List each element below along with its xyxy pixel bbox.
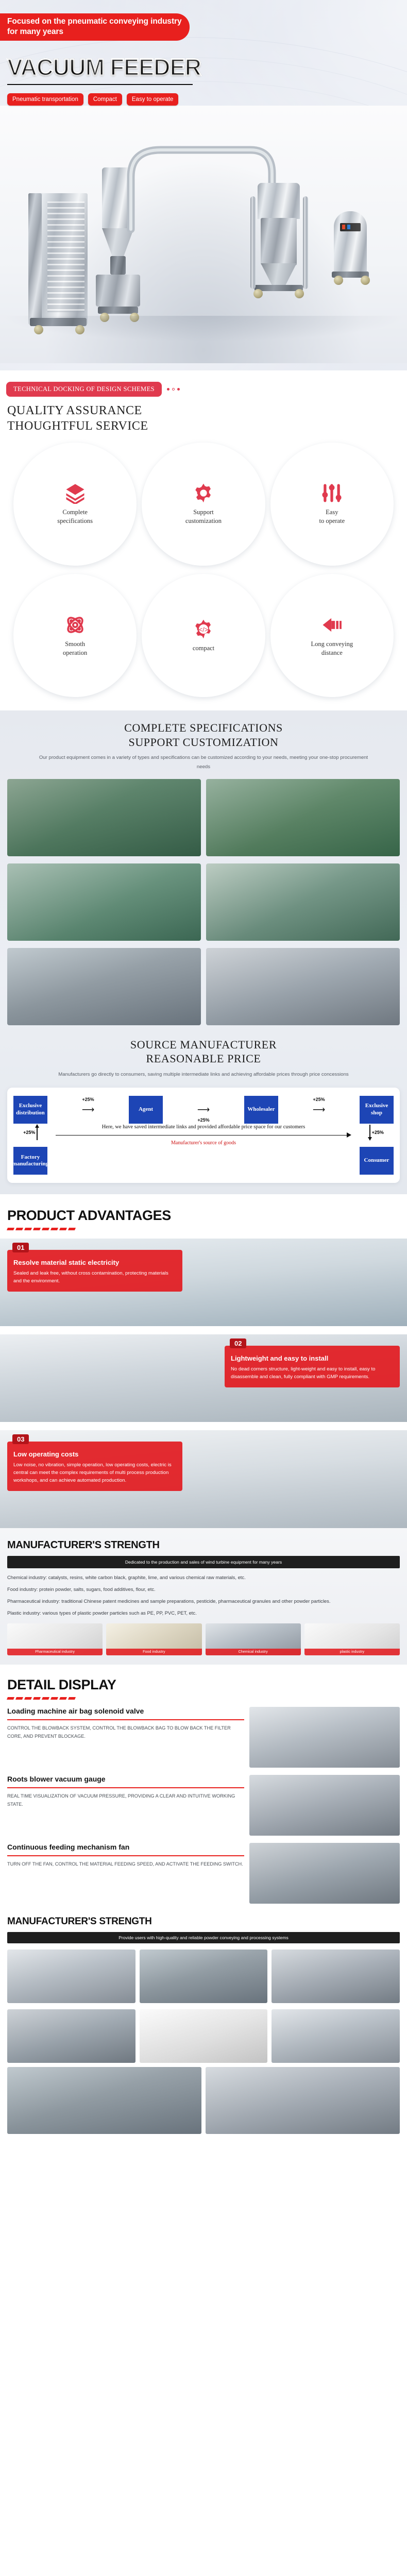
chain-top-row: Exclusive distribution +25% ⟶ Agent ⟶ +2… bbox=[13, 1096, 394, 1124]
specs-subtitle: Our product equipment comes in a variety… bbox=[0, 753, 407, 771]
manufacturer-strength-section: MANUFACTURER'S STRENGTH Dedicated to the… bbox=[0, 1528, 407, 1665]
gallery-grid-row2 bbox=[7, 2009, 400, 2063]
chain-percent: +25% bbox=[197, 1117, 209, 1123]
service-feature-item: Complete specifications bbox=[13, 443, 137, 566]
feature-tag: Easy to operate bbox=[127, 93, 179, 106]
gallery-photo bbox=[272, 1950, 400, 2003]
industry-caption: plastic industry bbox=[304, 1649, 400, 1655]
chain-node-wholesaler: Wholesaler bbox=[244, 1096, 278, 1124]
advantages-rule-decoration bbox=[7, 1228, 407, 1230]
advantage-heading: Lightweight and easy to install bbox=[231, 1354, 394, 1363]
detail-body: TURN OFF THE FAN, CONTROL THE MATERIAL F… bbox=[7, 1860, 244, 1869]
strength-paragraph: Chemical industry: catalysts, resins, wh… bbox=[7, 1573, 400, 1582]
arrow-up-icon bbox=[37, 1125, 38, 1140]
specs-title-secondary: SUPPORT CUSTOMIZATION bbox=[0, 735, 407, 750]
gallery-grid-row1 bbox=[7, 1950, 400, 2003]
dot-icon bbox=[172, 388, 175, 391]
chain-arrow-down: +25% bbox=[369, 1124, 384, 1141]
distribution-chain-card: Exclusive distribution +25% ⟶ Agent ⟶ +2… bbox=[7, 1088, 400, 1183]
chain-left-vertical: +25% bbox=[13, 1124, 47, 1141]
product-landing-page: Focused on the pneumatic conveying indus… bbox=[0, 0, 407, 2147]
chain-note-text: Here, we have saved intermediate links a… bbox=[50, 1124, 357, 1131]
industry-caption: Food industry bbox=[106, 1649, 201, 1655]
detail-body: CONTROL THE BLOWBACK SYSTEM, CONTROL THE… bbox=[7, 1724, 244, 1740]
gallery-photo bbox=[140, 2009, 268, 2063]
detail-item-2: Roots blower vacuum gauge REAL TIME VISU… bbox=[0, 1768, 407, 1836]
dot-icon bbox=[167, 388, 169, 391]
detail-item-3: Continuous feeding mechanism fan TURN OF… bbox=[0, 1836, 407, 1904]
gallery-photo bbox=[272, 2009, 400, 2063]
hero-section: Focused on the pneumatic conveying indus… bbox=[0, 0, 407, 370]
service-feature-label: Easy to operate bbox=[319, 508, 345, 526]
detail-body: REAL TIME VISUALIZATION OF VACUUM PRESSU… bbox=[7, 1792, 244, 1808]
technical-docking-banner: TECHNICAL DOCKING OF DESIGN SCHEMES bbox=[6, 382, 162, 397]
source-manufacturer-header: SOURCE MANUFACTURER REASONABLE PRICE Man… bbox=[0, 1038, 407, 1079]
detail-photo bbox=[249, 1843, 400, 1904]
title-underline bbox=[7, 84, 193, 85]
atom-icon bbox=[64, 614, 86, 636]
advantage-number: 01 bbox=[12, 1243, 29, 1252]
detail-text-block: Loading machine air bag solenoid valve C… bbox=[7, 1707, 244, 1768]
code-gear-icon: </> bbox=[193, 618, 214, 640]
chain-node-factory: Factory manufacturing bbox=[13, 1147, 47, 1175]
technical-docking-banner-row: TECHNICAL DOCKING OF DESIGN SCHEMES bbox=[0, 370, 407, 397]
service-feature-item: Smooth operation bbox=[13, 574, 137, 697]
chain-percent: +25% bbox=[23, 1130, 35, 1135]
strength-paragraph: Plastic industry: various types of plast… bbox=[7, 1609, 400, 1617]
gallery-title: MANUFACTURER'S STRENGTH bbox=[7, 1916, 400, 1927]
advantage-text: Sealed and leak free, without cross cont… bbox=[13, 1270, 176, 1285]
gallery-subtitle-bar: Provide users with high-quality and reli… bbox=[7, 1932, 400, 1943]
product-photo bbox=[7, 948, 201, 1025]
source-title-primary: SOURCE MANUFACTURER bbox=[0, 1038, 407, 1052]
service-feature-label: Support customization bbox=[185, 508, 222, 526]
feature-tag: Pneumatic transportation bbox=[7, 93, 83, 106]
sliders-icon bbox=[321, 482, 343, 504]
advantage-card-body: 03 Low operating costs Low noise, no vib… bbox=[7, 1442, 182, 1491]
advantages-title: PRODUCT ADVANTAGES bbox=[7, 1208, 407, 1224]
product-photo bbox=[206, 948, 400, 1025]
product-photo bbox=[7, 863, 201, 941]
quality-heading-primary: QUALITY ASSURANCE bbox=[7, 404, 407, 418]
gallery-grid-row3 bbox=[7, 2067, 400, 2134]
industry-cell: Pharmaceutical industry bbox=[7, 1623, 103, 1655]
detail-heading: Loading machine air bag solenoid valve bbox=[7, 1707, 244, 1721]
quality-assurance-section: TECHNICAL DOCKING OF DESIGN SCHEMES QUAL… bbox=[0, 370, 407, 711]
chain-arrow-up: +25% bbox=[23, 1124, 38, 1141]
gear-icon bbox=[193, 482, 214, 504]
service-feature-label: Smooth operation bbox=[63, 640, 87, 657]
industry-cell: plastic industry bbox=[304, 1623, 400, 1655]
strength-paragraph: Food industry: protein powder, salts, su… bbox=[7, 1585, 400, 1594]
industry-cell: Food industry bbox=[106, 1623, 201, 1655]
product-photo bbox=[206, 779, 400, 856]
feature-tag-list: Pneumatic transportation Compact Easy to… bbox=[7, 93, 407, 106]
strength-paragraph: Pharmaceutical industry: traditional Chi… bbox=[7, 1597, 400, 1605]
service-feature-item: Long conveying distance bbox=[270, 574, 394, 697]
detail-heading: Continuous feeding mechanism fan bbox=[7, 1843, 244, 1857]
gallery-photo bbox=[7, 1950, 135, 2003]
detail-title: DETAIL DISPLAY bbox=[7, 1677, 407, 1693]
strength-body: Chemical industry: catalysts, resins, wh… bbox=[7, 1573, 400, 1617]
detail-photo bbox=[249, 1775, 400, 1836]
chain-bottom-row: Factory manufacturing Consumer bbox=[13, 1147, 394, 1175]
advantage-heading: Low operating costs bbox=[13, 1450, 176, 1459]
manufacturer-gallery-section: MANUFACTURER'S STRENGTH Provide users wi… bbox=[0, 1904, 407, 2147]
industry-cell: Chemical industry bbox=[206, 1623, 301, 1655]
decorative-dots bbox=[167, 388, 180, 391]
detail-text-block: Roots blower vacuum gauge REAL TIME VISU… bbox=[7, 1775, 244, 1836]
arrow-left-bars-icon bbox=[321, 614, 343, 636]
chain-percent: +25% bbox=[313, 1097, 325, 1102]
advantage-card-01: 01 Resolve material static electricity S… bbox=[0, 1239, 407, 1326]
chain-node-agent: Agent bbox=[129, 1096, 163, 1124]
detail-heading: Roots blower vacuum gauge bbox=[7, 1775, 244, 1789]
advantage-text: Low noise, no vibration, simple operatio… bbox=[13, 1462, 176, 1485]
chain-node-exclusive-distribution: Exclusive distribution bbox=[13, 1096, 47, 1124]
advantage-number: 03 bbox=[12, 1434, 29, 1444]
service-feature-label: compact bbox=[193, 644, 214, 653]
source-subtitle: Manufacturers go directly to consumers, … bbox=[0, 1070, 407, 1079]
specs-photo-grid-row1 bbox=[0, 772, 407, 856]
chain-arrow-3: +25% ⟶ bbox=[304, 1096, 334, 1124]
detail-item-1: Loading machine air bag solenoid valve C… bbox=[0, 1700, 407, 1768]
strength-subtitle-bar: Dedicated to the production and sales of… bbox=[7, 1556, 400, 1568]
source-title-secondary: REASONABLE PRICE bbox=[0, 1052, 407, 1066]
layers-icon bbox=[64, 482, 86, 504]
arrow-down-icon bbox=[369, 1125, 370, 1140]
gallery-photo bbox=[7, 2067, 201, 2134]
feature-tag: Compact bbox=[88, 93, 122, 106]
gallery-photo bbox=[7, 2009, 135, 2063]
chain-right-vertical: +25% bbox=[360, 1124, 394, 1141]
hero-product-photo bbox=[0, 106, 407, 363]
detail-text-block: Continuous feeding mechanism fan TURN OF… bbox=[7, 1843, 244, 1904]
advantage-card-body: 01 Resolve material static electricity S… bbox=[7, 1250, 182, 1292]
strength-title: MANUFACTURER'S STRENGTH bbox=[7, 1539, 400, 1551]
gallery-photo bbox=[206, 2067, 400, 2134]
chain-arrow-1: +25% ⟶ bbox=[73, 1096, 103, 1124]
specifications-section: COMPLETE SPECIFICATIONS SUPPORT CUSTOMIZ… bbox=[0, 710, 407, 1194]
chain-middle-row: +25% Here, we have saved intermediate li… bbox=[13, 1124, 394, 1146]
gallery-photo bbox=[140, 1950, 268, 2003]
service-feature-item: Support customization bbox=[142, 443, 265, 566]
chain-arrow-2: ⟶ +25% bbox=[189, 1096, 218, 1124]
dot-icon bbox=[177, 388, 180, 391]
product-advantages-section: PRODUCT ADVANTAGES 01 Resolve material s… bbox=[0, 1194, 407, 1528]
arrow-right-icon: ⟶ bbox=[82, 1105, 94, 1114]
advantage-text: No dead corners structure, light-weight … bbox=[231, 1366, 394, 1381]
product-photo bbox=[206, 863, 400, 941]
service-feature-grid: Complete specifications Support customiz… bbox=[0, 433, 407, 711]
specs-photo-grid-row2 bbox=[0, 856, 407, 941]
page-title: VACUUM FEEDER bbox=[7, 54, 407, 81]
chain-note: Here, we have saved intermediate links a… bbox=[47, 1124, 360, 1146]
hero-tagline-banner: Focused on the pneumatic conveying indus… bbox=[0, 13, 190, 41]
chain-node-exclusive-shop: Exclusive shop bbox=[360, 1096, 394, 1124]
svg-text:</>: </> bbox=[199, 626, 208, 634]
chain-percent: +25% bbox=[82, 1097, 94, 1102]
arrow-right-icon: ⟶ bbox=[313, 1105, 325, 1114]
strength-industry-grid: Pharmaceutical industry Food industry Ch… bbox=[7, 1623, 400, 1655]
chain-direct-arrow bbox=[56, 1132, 351, 1139]
chain-node-consumer: Consumer bbox=[360, 1147, 394, 1175]
chain-percent: +25% bbox=[372, 1130, 384, 1135]
advantage-heading: Resolve material static electricity bbox=[13, 1259, 176, 1267]
advantage-card-02: 02 Lightweight and easy to install No de… bbox=[0, 1334, 407, 1422]
arrow-right-icon: ⟶ bbox=[197, 1105, 210, 1114]
advantage-number: 02 bbox=[230, 1338, 246, 1348]
industry-caption: Pharmaceutical industry bbox=[7, 1649, 103, 1655]
chain-note-highlight: Manufacturer's source of goods bbox=[50, 1140, 357, 1146]
service-feature-item: Easy to operate bbox=[270, 443, 394, 566]
advantage-card-body: 02 Lightweight and easy to install No de… bbox=[225, 1346, 400, 1387]
industry-caption: Chemical industry bbox=[206, 1649, 301, 1655]
product-photo bbox=[7, 779, 201, 856]
service-feature-item: </> compact bbox=[142, 574, 265, 697]
service-feature-label: Complete specifications bbox=[57, 508, 93, 526]
detail-photo bbox=[249, 1707, 400, 1768]
specs-photo-grid-row3 bbox=[0, 941, 407, 1025]
specs-title-primary: COMPLETE SPECIFICATIONS bbox=[0, 721, 407, 735]
quality-heading-secondary: THOUGHTFUL SERVICE bbox=[7, 419, 407, 433]
advantage-card-03: 03 Low operating costs Low noise, no vib… bbox=[0, 1430, 407, 1528]
detail-display-section: DETAIL DISPLAY Loading machine air bag s… bbox=[0, 1665, 407, 1904]
service-feature-label: Long conveying distance bbox=[311, 640, 353, 657]
